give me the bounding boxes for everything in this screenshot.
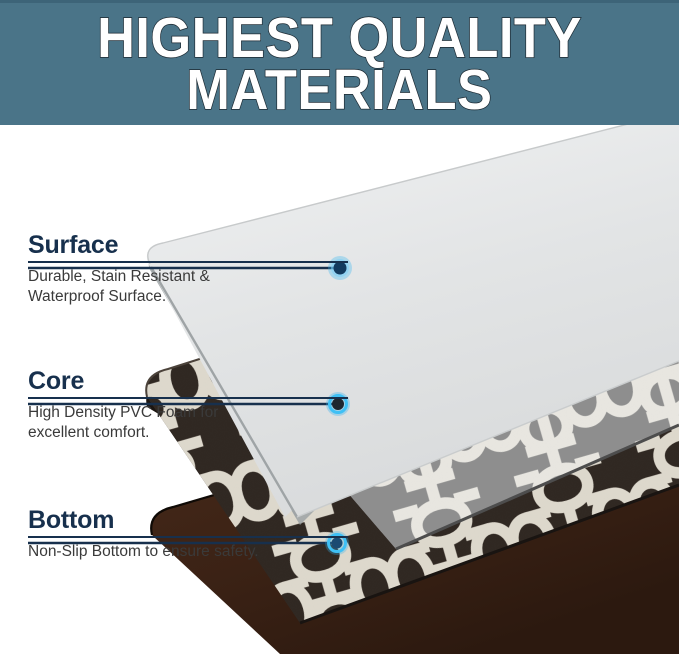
callout-core: Core High Density PVC Foam for excellent… <box>28 368 348 442</box>
callout-surface: Surface Durable, Stain Resistant & Water… <box>28 232 348 306</box>
callout-bottom-body: Non-Slip Bottom to ensure safety. <box>28 542 348 562</box>
product-infographic: HIGHEST QUALITY MATERIALS <box>0 0 679 654</box>
callout-core-rule <box>28 397 348 399</box>
callout-core-body: High Density PVC Foam for excellent comf… <box>28 403 348 442</box>
callout-bottom-title: Bottom <box>28 507 348 533</box>
callout-bottom-rule <box>28 536 348 538</box>
callout-surface-title: Surface <box>28 232 348 258</box>
header-title-line-2: MATERIALS <box>186 63 492 118</box>
callout-surface-rule <box>28 261 348 263</box>
callout-bottom: Bottom Non-Slip Bottom to ensure safety. <box>28 507 348 562</box>
header-banner: HIGHEST QUALITY MATERIALS <box>0 0 679 125</box>
callout-core-title: Core <box>28 368 348 394</box>
callout-surface-body: Durable, Stain Resistant & Waterproof Su… <box>28 267 348 306</box>
